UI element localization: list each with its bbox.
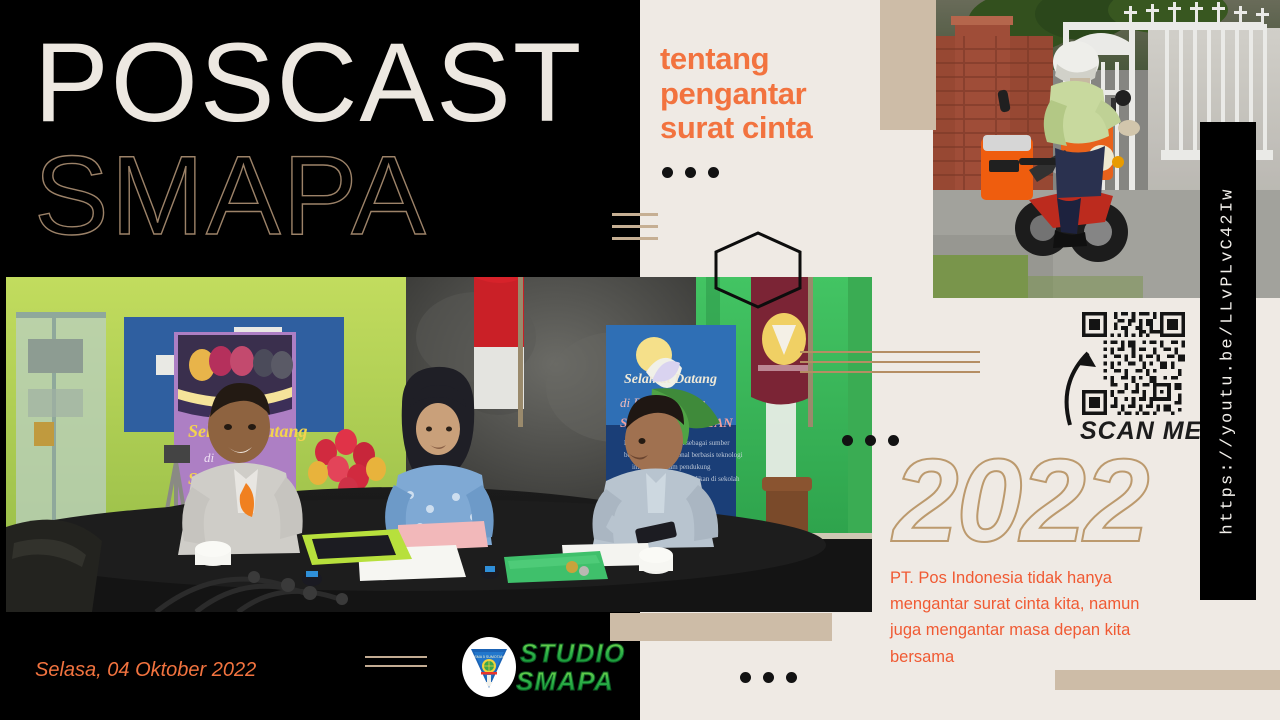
broadcast-date: Selasa, 04 Oktober 2022 bbox=[35, 659, 256, 682]
youtube-url-text: https://youtu.be/LLvPLvC42Iw bbox=[1219, 187, 1238, 534]
dots-group-middle bbox=[842, 435, 899, 446]
podcast-studio-photo: Selamat Datang di Studio Smapa Terdepan … bbox=[6, 277, 872, 612]
page-subtitle-outline: SMAPA bbox=[34, 143, 428, 249]
svg-text:di: di bbox=[204, 450, 215, 465]
studio-smapa-wordmark: STUDIO SMAPA bbox=[516, 638, 676, 696]
youtube-url-strip[interactable]: https://youtu.be/LLvPLvC42Iw bbox=[1200, 122, 1256, 600]
studio-smapa-logo: SMA 5 SUMOTAN STUDIO SMAPA bbox=[458, 636, 676, 698]
dots-group-bottom bbox=[740, 672, 797, 683]
accent-lines-right bbox=[800, 351, 980, 381]
accent-lines-bottom bbox=[365, 656, 427, 674]
svg-text:SMA 5 SUMOTAN: SMA 5 SUMOTAN bbox=[474, 655, 504, 659]
menu-lines-icon bbox=[612, 213, 658, 249]
qr-block[interactable]: SCAN ME bbox=[1068, 312, 1202, 446]
body-paragraph: PT. Pos Indonesia tidak hanya mengantar … bbox=[890, 565, 1160, 670]
hexagon-icon bbox=[713, 231, 803, 309]
dots-group-top bbox=[662, 167, 719, 178]
tan-rectangle-top bbox=[880, 0, 936, 130]
page-title: POSCAST bbox=[34, 30, 583, 136]
school-emblem-icon: SMA 5 SUMOTAN bbox=[458, 636, 520, 698]
headline-line-2: pengantar bbox=[660, 77, 812, 112]
headline-line-3: surat cinta bbox=[660, 111, 812, 146]
svg-text:STUDIO: STUDIO bbox=[520, 638, 625, 668]
svg-text:SMAPA: SMAPA bbox=[516, 666, 614, 696]
headline-text: tentang pengantar surat cinta bbox=[660, 42, 812, 146]
tan-rectangle-bottom bbox=[1055, 670, 1280, 690]
curved-arrow-icon bbox=[1062, 339, 1108, 427]
year-label: 2022 bbox=[893, 442, 1148, 560]
poster-canvas: POSCAST SMAPA tentang pengantar surat ci… bbox=[0, 0, 1280, 720]
headline-line-1: tentang bbox=[660, 42, 812, 77]
